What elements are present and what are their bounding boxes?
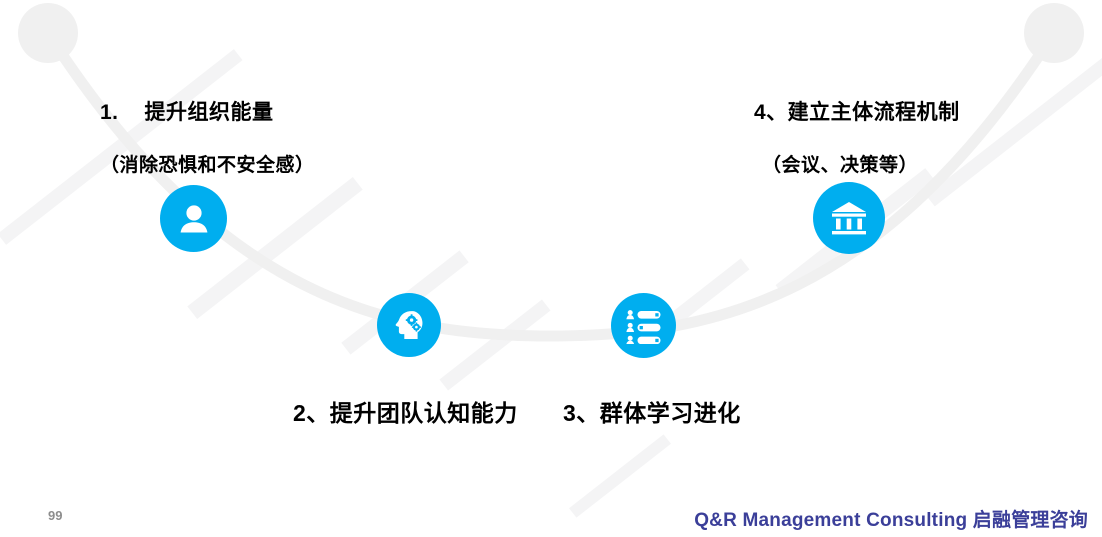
step-4-icon-node[interactable] xyxy=(813,182,885,254)
step-1-number: 1. xyxy=(100,101,119,124)
brand-footer: Q&R Management Consulting 启融管理咨询 xyxy=(694,505,1088,532)
curve-endpoint-left-icon xyxy=(18,3,78,63)
user-person-icon xyxy=(176,201,212,237)
step-1-title: 提升组织能量 xyxy=(145,101,274,124)
bank-institution-icon xyxy=(829,199,869,237)
page-number: 99 xyxy=(48,508,62,523)
step-2-heading: 2、提升团队认知能力 xyxy=(293,394,518,428)
step-3-heading: 3、群体学习进化 xyxy=(563,394,741,428)
head-with-gears-icon xyxy=(391,307,427,343)
step-4-title: 4、建立主体流程机制 xyxy=(754,101,960,124)
step-1-heading: 1.提升组织能量 xyxy=(100,96,274,126)
step-3-icon-node[interactable] xyxy=(611,293,676,358)
step-4-subtext: （会议、决策等） xyxy=(762,150,918,177)
brand-name-en: Q&R Management Consulting xyxy=(694,510,967,531)
curve-endpoint-right-icon xyxy=(1024,3,1084,63)
valley-curve xyxy=(0,0,1102,537)
step-1-subtext: （消除恐惧和不安全感） xyxy=(100,150,315,177)
step-4-heading: 4、建立主体流程机制 xyxy=(754,96,960,126)
step-2-icon-node[interactable] xyxy=(377,293,441,357)
brand-name-cn: 启融管理咨询 xyxy=(973,510,1088,531)
people-list-icon xyxy=(625,308,663,344)
step-1-icon-node[interactable] xyxy=(160,185,227,252)
slide-canvas: 1.提升组织能量 （消除恐惧和不安全感） 4、建立主体流程机制 （会议、决策等） xyxy=(0,0,1102,537)
